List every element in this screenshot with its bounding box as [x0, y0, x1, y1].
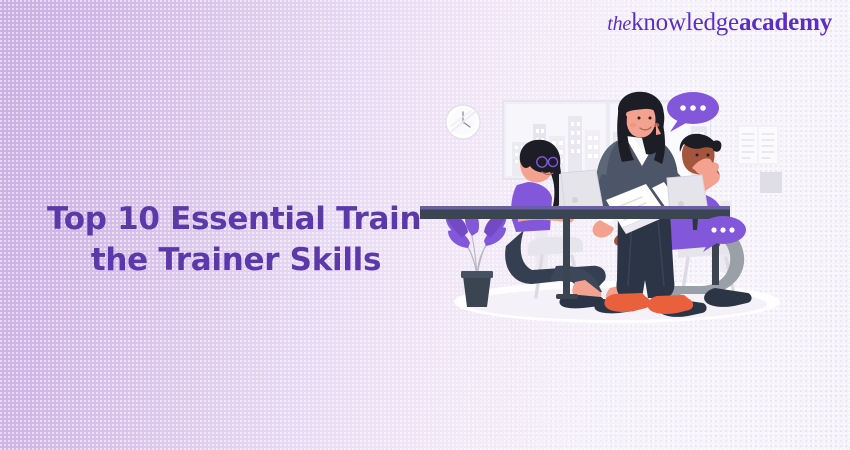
logo-academy: academy	[739, 9, 832, 36]
page-title-line-1: Top 10 Essential Train	[47, 201, 421, 237]
wall-sticky-note	[760, 172, 782, 193]
brand-logo[interactable]: theknowledgeacademy	[607, 10, 832, 35]
laptop-seated-woman	[561, 170, 603, 211]
logo-the: the	[607, 13, 631, 35]
wall-clock-icon	[446, 105, 480, 139]
plant-pot	[463, 276, 491, 307]
standing-trainer-hand-left	[593, 220, 614, 238]
wall-notepad	[738, 126, 778, 164]
illustration-office-training-meeting	[420, 80, 850, 370]
table-leg-center	[563, 219, 570, 297]
logo-knowledge: knowledge	[631, 9, 739, 36]
page-title-line-2: the Trainer Skills	[47, 240, 447, 281]
banner: theknowledgeacademy Top 10 Essential Tra…	[0, 0, 850, 450]
page-title: Top 10 Essential Train the Trainer Skill…	[47, 199, 447, 281]
